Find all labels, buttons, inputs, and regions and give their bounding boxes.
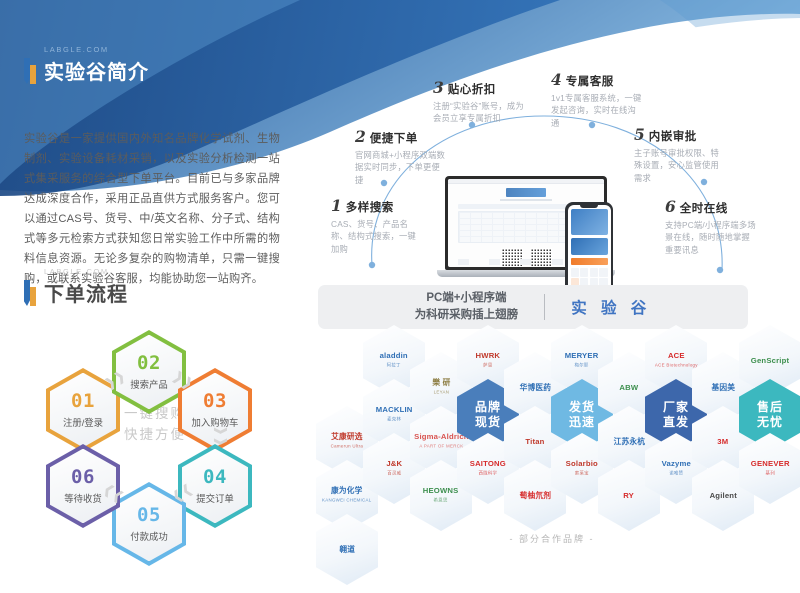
platform-banner: PC端+小程序端 为科研采购插上翅膀 实 验 谷 [318, 285, 748, 329]
brand-logo: MACKLIN麦克林 [376, 405, 413, 423]
brand-logo-name: HEOWNS [423, 486, 459, 495]
device-mockup [437, 176, 642, 286]
brand-logo: aladdin阿拉丁 [380, 351, 408, 369]
brand-logo-name: MERYER [565, 351, 599, 360]
brand-logo-sub: 梅尔耶 [565, 361, 599, 370]
brand-logo-name: 翱道 [339, 545, 355, 554]
brand-logo: 康为化学KANGWEI CHEMICAL [322, 486, 371, 504]
brand-logo-name: 艾康研选 [331, 432, 363, 441]
brand-logo: GENEVER基列 [751, 459, 790, 477]
brand-logo: Titan [525, 437, 544, 446]
brand-logo: 翱道 [339, 545, 355, 554]
brands-caption: - 部分合作品牌 - [316, 532, 788, 545]
banner-line1: PC端+小程序端 [415, 290, 519, 307]
wheel-arrow-3: ❱❱ [213, 425, 229, 447]
brand-logo-sub: 西陇科学 [470, 469, 506, 478]
feature-1-title: 多样搜索 [346, 199, 394, 215]
brand-logo-sub: 百灵威 [386, 469, 402, 478]
brand-logo-name: 华博医药 [519, 383, 551, 392]
accent-line2: 无忧 [757, 415, 783, 430]
brand-logo: ACEACE Biotechnology [655, 351, 698, 369]
labgle-mark-icon [24, 58, 37, 84]
brand-logo: 樂 研LEYAN [432, 378, 450, 396]
process-title: 下单流程 [44, 278, 128, 307]
feature-5-number: 5 [634, 125, 645, 144]
feature-4-number: 4 [551, 70, 562, 89]
brand-logo-name: 康为化学 [331, 486, 363, 495]
process-dotcom: LABGLE.COM [44, 267, 109, 276]
feature-6-desc: 支持PC端/小程序端多场景在线，随时随地掌握重要讯息 [665, 219, 757, 256]
labgle-mark-icon-2 [24, 280, 37, 306]
feature-6-number: 6 [665, 197, 676, 216]
feature-6-title: 全时在线 [680, 200, 728, 216]
banner-line2: 为科研采购插上翅膀 [415, 307, 519, 324]
accent-line1: 品牌 [475, 400, 501, 415]
brand-logo-name: GenScript [751, 356, 789, 365]
brand-logo-sub: Camerun Ultra [331, 442, 363, 451]
process-step-02-label: 搜索产品 [130, 377, 168, 391]
feature-3-desc: 注册“实验谷”账号，成为会员立享专属折扣 [433, 100, 525, 125]
brand-logo: 基因美 [711, 383, 735, 392]
banner-slogan: PC端+小程序端 为科研采购插上翅膀 [415, 290, 519, 324]
brand-logo-sub: KANGWEI CHEMICAL [322, 496, 371, 505]
process-wheel: 一键搜购 快捷方便 01 注册/登录 02 搜索产品 03 加入购物车 04 提… [24, 330, 286, 545]
brand-logo-name: SAITONG [470, 459, 506, 468]
brand-logo: 3M [717, 437, 728, 446]
brand-logo: ABW [620, 383, 639, 392]
brand-logo: HEOWNS希恩思 [423, 486, 459, 504]
brand-logo-sub: 希恩思 [423, 496, 459, 505]
feature-callout-5: 5内嵌审批 主子账号审批权限、特殊设置，安心监管使用需求 [634, 125, 726, 184]
feature-3-title: 贴心折扣 [448, 81, 496, 97]
accent-line1: 厂家 [663, 400, 689, 415]
feature-callout-3: 3贴心折扣 注册“实验谷”账号，成为会员立享专属折扣 [433, 78, 525, 125]
feature-4-desc: 1v1专属客服系统，一键发起咨询，实时在线沟通 [551, 92, 643, 129]
brand-logo-name: 萄柚氘剂 [519, 491, 551, 500]
feature-5-title: 内嵌审批 [649, 128, 697, 144]
brand-logo-name: HWRK [476, 351, 501, 360]
process-step-05-label: 付款成功 [130, 529, 168, 543]
brand-logo: J&K百灵威 [386, 459, 402, 477]
accent-line2: 迅速 [569, 415, 595, 430]
intro-paragraph: 实验谷是一家提供国内外知名品牌化学试剂、生物制剂、实验设备耗材采销，以及实验分析… [24, 129, 280, 289]
feature-callout-4: 4专属客服 1v1专属客服系统，一键发起咨询，实时在线沟通 [551, 70, 643, 129]
brand-logo-sub: ACE Biotechnology [655, 361, 698, 370]
brand-logo-sub: 索莱宝 [566, 469, 598, 478]
brand-logo-name: GENEVER [751, 459, 790, 468]
feature-callout-2: 2便捷下单 官网商城+小程序双端数据实时同步，下单更便捷 [355, 127, 447, 186]
banner-divider [544, 294, 545, 320]
feature-1-number: 1 [331, 196, 342, 215]
brand-logo: 江苏永杭 [613, 437, 645, 446]
brand-logo-sub: 诺唯赞 [661, 469, 690, 478]
phone-mockup [565, 202, 613, 294]
brand-logo-name: 江苏永杭 [613, 437, 645, 446]
brand-logo: 华博医药 [519, 383, 551, 392]
feature-3-number: 3 [433, 78, 444, 97]
intro-dotcom: LABGLE.COM [44, 45, 109, 54]
banner-brand: 实 验 谷 [571, 296, 651, 318]
process-step-04-num: 04 [203, 468, 227, 487]
brand-logo-sub: 基列 [751, 469, 790, 478]
intro-title: 实验谷简介 [44, 56, 149, 85]
accent-line2: 直发 [663, 415, 689, 430]
feature-callout-1: 1多样搜索 CAS、货号、产品名称、结构式搜索，一键加购 [331, 196, 423, 255]
feature-callout-6: 6全时在线 支持PC端/小程序端多场景在线，随时随地掌握重要讯息 [665, 197, 757, 256]
feature-2-desc: 官网商城+小程序双端数据实时同步，下单更便捷 [355, 149, 447, 186]
brand-logo: 萄柚氘剂 [519, 491, 551, 500]
brand-logo-name: 樂 研 [432, 378, 450, 387]
brand-logo: Agilent [709, 491, 736, 500]
brand-logo-name: Vazyme [661, 459, 690, 468]
brand-logo: Vazyme诺唯赞 [661, 459, 690, 477]
feature-1-desc: CAS、货号、产品名称、结构式搜索，一键加购 [331, 218, 423, 255]
brand-logo: HWRK萨恩 [476, 351, 501, 369]
feature-4-title: 专属客服 [566, 73, 614, 89]
brand-logo-sub: 麦克林 [376, 415, 413, 424]
partner-brand-grid: 艾康研选Camerun Ultra康为化学KANGWEI CHEMICAL翱道a… [316, 360, 788, 528]
site-logo-placeholder [506, 188, 546, 197]
brand-logo-name: 3M [717, 437, 728, 446]
brand-logo: 艾康研选Camerun Ultra [331, 432, 363, 450]
brand-logo-sub: 阿拉丁 [380, 361, 408, 370]
process-step-06-num: 06 [71, 468, 95, 487]
brand-logo: SAITONG西陇科学 [470, 459, 506, 477]
poster-page: LABGLE.COM 实验谷简介 实验谷是一家提供国内外知名品牌化学试剂、生物制… [0, 0, 800, 593]
process-step-01-label: 注册/登录 [63, 415, 103, 429]
brand-logo-sub: 萨恩 [476, 361, 501, 370]
accent-line1: 售后 [757, 400, 783, 415]
feature-5-desc: 主子账号审批权限、特殊设置，安心监管使用需求 [634, 147, 726, 184]
brand-logo-name: Titan [525, 437, 544, 446]
brand-logo-name: ACE [668, 351, 685, 360]
brand-logo: MERYER梅尔耶 [565, 351, 599, 369]
process-step-01-num: 01 [71, 392, 95, 411]
brand-logo: Sigma-AldrichA PART OF MERCK [414, 432, 469, 450]
feature-2-title: 便捷下单 [370, 130, 418, 146]
feature-2-number: 2 [355, 127, 366, 146]
process-step-03-num: 03 [203, 392, 227, 411]
accent-line1: 发货 [569, 400, 595, 415]
brand-logo-name: aladdin [380, 351, 408, 360]
brand-logo-name: J&K [386, 459, 402, 468]
brand-logo: RY [624, 491, 635, 500]
brand-logo: GenScript [751, 356, 789, 365]
process-step-04-label: 提交订单 [196, 491, 234, 505]
process-step-02-num: 02 [137, 354, 161, 373]
brand-logo-name: Agilent [709, 491, 736, 500]
phone-notch [580, 205, 598, 208]
brand-logo-name: RY [624, 491, 635, 500]
process-step-06-label: 等待收货 [64, 491, 102, 505]
brand-logo-sub: LEYAN [432, 388, 450, 397]
brand-logo-name: Solarbio [566, 459, 598, 468]
accent-line2: 现货 [475, 415, 501, 430]
process-step-05-num: 05 [137, 506, 161, 525]
brand-logo-name: ABW [620, 383, 639, 392]
brand-logo: Solarbio索莱宝 [566, 459, 598, 477]
brand-logo-name: MACKLIN [376, 405, 413, 414]
brand-logo-name: 基因美 [711, 383, 735, 392]
